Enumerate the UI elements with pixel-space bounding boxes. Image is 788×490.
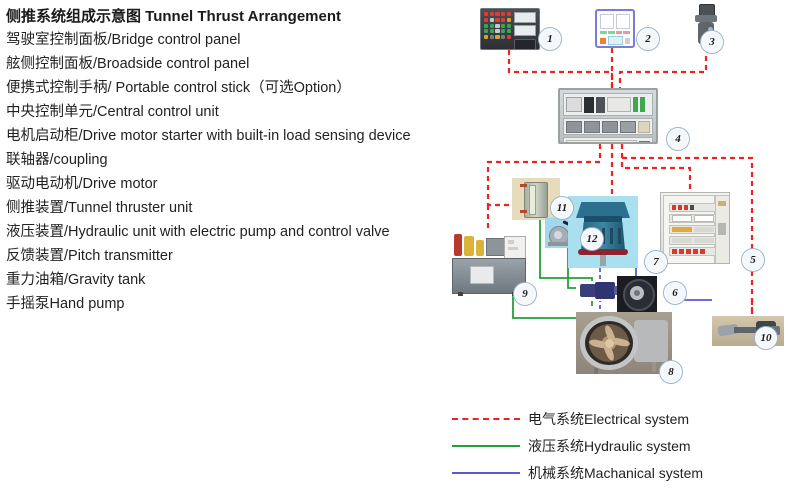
system-diagram: 1 2 3 (440, 0, 788, 400)
component-line-5: 电机启动柜/Drive motor starter with built-in … (6, 124, 456, 148)
component-line-1: 驾驶室控制面板/Bridge control panel (6, 28, 456, 52)
badge-6: 6 (663, 281, 687, 305)
badge-3: 3 (700, 30, 724, 54)
badge-9: 9 (513, 282, 537, 306)
badge-12: 12 (580, 227, 604, 251)
node-tunnel-thruster-unit[interactable] (576, 312, 672, 374)
node-broadside-control-panel[interactable] (595, 9, 635, 48)
badge-1: 1 (538, 27, 562, 51)
node-coupling[interactable] (617, 276, 657, 312)
badge-5: 5 (741, 248, 765, 272)
component-line-9: 液压装置/Hydraulic unit with electric pump a… (6, 220, 456, 244)
badge-4: 4 (666, 127, 690, 151)
component-line-12: 手摇泵Hand pump (6, 292, 456, 316)
node-drive-motor[interactable] (568, 196, 638, 268)
system-legend: 电气系统Electrical system 液压系统Hydraulic syst… (452, 405, 782, 486)
badge-10: 10 (754, 326, 778, 350)
legend-label-mechanical: 机械系统Machanical system (528, 463, 703, 483)
badge-11: 11 (550, 196, 574, 220)
legend-label-electrical: 电气系统Electrical system (528, 409, 689, 429)
node-central-control-unit[interactable] (558, 88, 658, 144)
badge-8: 8 (659, 360, 683, 384)
component-text-column: 侧推系统组成示意图 Tunnel Thrust Arrangement 驾驶室控… (6, 6, 456, 316)
page-title: 侧推系统组成示意图 Tunnel Thrust Arrangement (6, 6, 456, 28)
component-line-8: 侧推装置/Tunnel thruster unit (6, 196, 456, 220)
component-line-6: 联轴器/coupling (6, 148, 456, 172)
node-bridge-control-panel[interactable] (480, 8, 540, 50)
component-line-11: 重力油箱/Gravity tank (6, 268, 456, 292)
component-line-7: 驱动电动机/Drive motor (6, 172, 456, 196)
legend-label-hydraulic: 液压系统Hydraulic system (528, 436, 691, 456)
legend-row-electrical: 电气系统Electrical system (452, 405, 782, 432)
badge-7: 7 (644, 250, 668, 274)
component-line-3: 便携式控制手柄/ Portable control stick（可选Option… (6, 76, 456, 100)
legend-row-hydraulic: 液压系统Hydraulic system (452, 432, 782, 459)
component-line-2: 舷侧控制面板/Broadside control panel (6, 52, 456, 76)
legend-row-mechanical: 机械系统Machanical system (452, 459, 782, 486)
component-line-10: 反馈装置/Pitch transmitter (6, 244, 456, 268)
node-drive-motor-starter-cabinet[interactable] (660, 192, 730, 264)
component-line-4: 中央控制单元/Central control unit (6, 100, 456, 124)
badge-2: 2 (636, 27, 660, 51)
